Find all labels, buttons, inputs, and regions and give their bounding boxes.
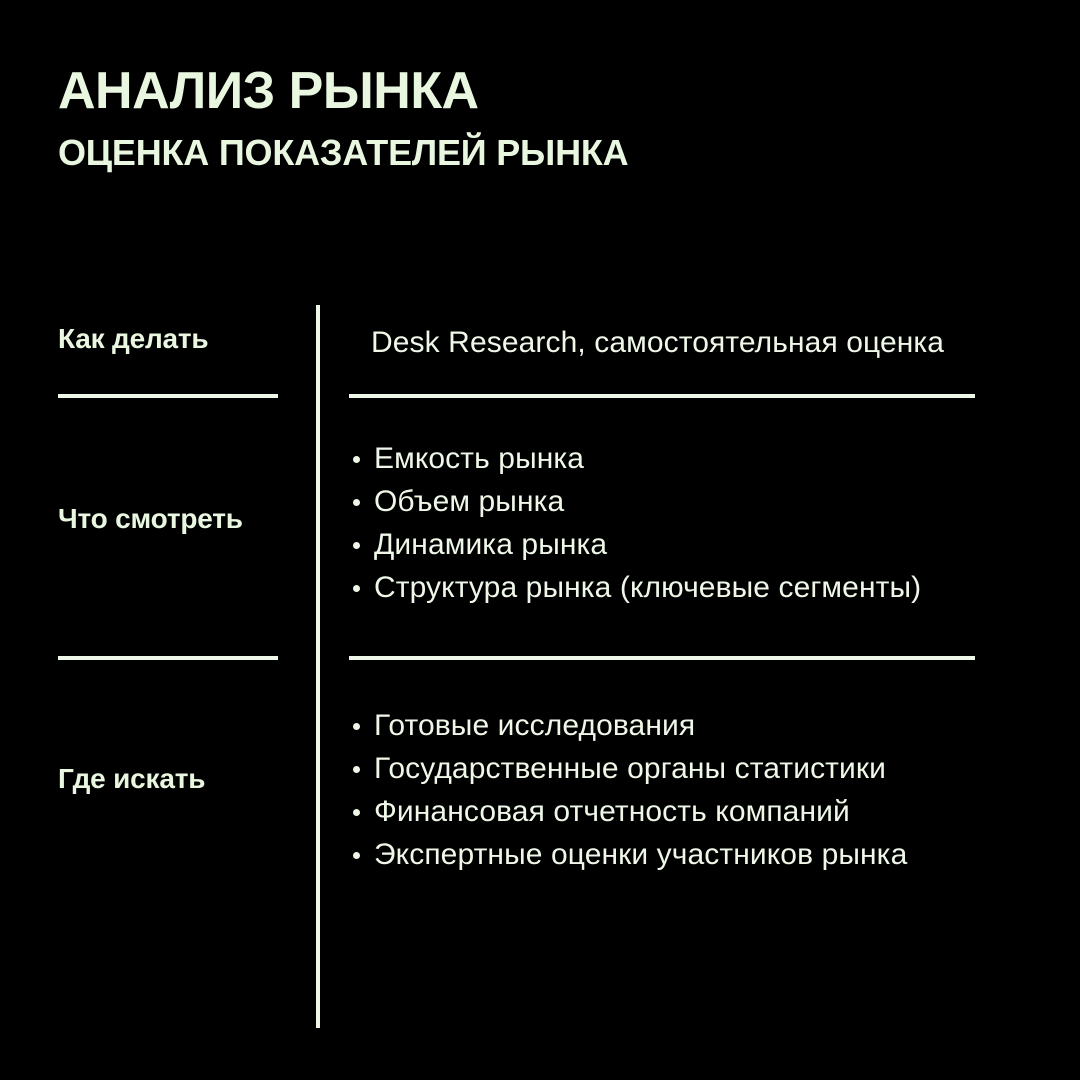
list-item: Объем рынка bbox=[349, 480, 1039, 523]
list-item-label: Динамика рынка bbox=[374, 528, 607, 561]
list-item-label: Экспертные оценки участников рынка bbox=[374, 838, 907, 871]
bullet-list-where-to-search: Готовые исследования Государственные орг… bbox=[349, 704, 1039, 876]
row-label-what-to-watch: Что смотреть bbox=[58, 502, 308, 536]
list-item-label: Государственные органы статистики bbox=[374, 752, 886, 785]
row-label-how-to-do: Как делать bbox=[58, 322, 308, 356]
bullet-dot-icon bbox=[353, 542, 360, 549]
bullet-dot-icon bbox=[353, 585, 360, 592]
row-divider-right-1 bbox=[349, 394, 975, 398]
bullet-dot-icon bbox=[353, 723, 360, 730]
bullet-list-what-to-watch: Емкость рынка Объем рынка Динамика рынка… bbox=[349, 437, 1039, 609]
row-label-where-to-search: Где искать bbox=[58, 762, 308, 796]
list-item: Динамика рынка bbox=[349, 523, 1039, 566]
row-value-how-to-do: Desk Research, самостоятельная оценка bbox=[371, 324, 1031, 362]
list-item: Готовые исследования bbox=[349, 704, 1039, 747]
bullet-dot-icon bbox=[353, 809, 360, 816]
list-item: Финансовая отчетность компаний bbox=[349, 790, 1039, 833]
row-divider-left-1 bbox=[58, 394, 278, 398]
list-item-label: Объем рынка bbox=[374, 485, 564, 518]
slide-root: АНАЛИЗ РЫНКА ОЦЕНКА ПОКАЗАТЕЛЕЙ РЫНКА Ка… bbox=[0, 0, 1080, 1080]
list-item-label: Финансовая отчетность компаний bbox=[374, 795, 850, 828]
list-item-label: Структура рынка (ключевые сегменты) bbox=[374, 571, 921, 604]
list-item-label: Готовые исследования bbox=[374, 709, 695, 742]
row-divider-right-2 bbox=[349, 656, 975, 660]
list-item: Емкость рынка bbox=[349, 437, 1039, 480]
list-item: Экспертные оценки участников рынка bbox=[349, 833, 1039, 876]
bullet-dot-icon bbox=[353, 852, 360, 859]
list-item: Государственные органы статистики bbox=[349, 747, 1039, 790]
info-table: Как делать Desk Research, самостоятельна… bbox=[0, 0, 1080, 1080]
bullet-dot-icon bbox=[353, 456, 360, 463]
bullet-dot-icon bbox=[353, 766, 360, 773]
bullet-dot-icon bbox=[353, 499, 360, 506]
list-item-label: Емкость рынка bbox=[374, 442, 584, 475]
row-divider-left-2 bbox=[58, 656, 278, 660]
list-item: Структура рынка (ключевые сегменты) bbox=[349, 566, 1039, 609]
